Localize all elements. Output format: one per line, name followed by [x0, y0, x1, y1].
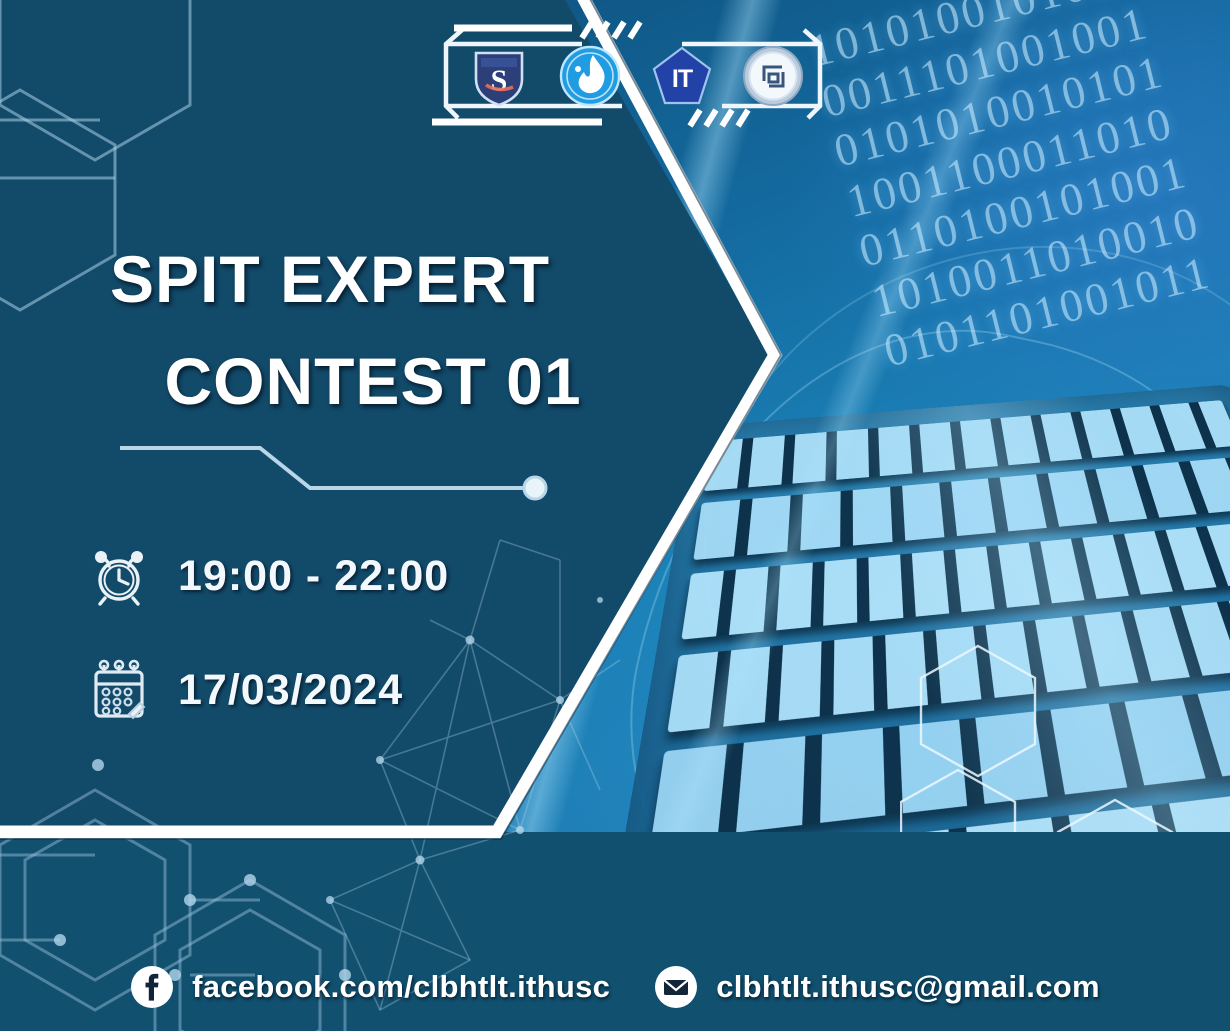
alarm-clock-icon [88, 545, 150, 607]
shield-letter: S [491, 64, 508, 97]
envelope-icon[interactable] [654, 965, 698, 1009]
logo-bar: S IT [432, 14, 830, 136]
facebook-url[interactable]: facebook.com/clbhtlt.ithusc [192, 969, 610, 1005]
logo-flame-circle-emblem [559, 45, 621, 107]
event-time: 19:00 - 22:00 [178, 552, 449, 601]
detail-row-date: 17/03/2024 [88, 659, 528, 721]
email-address[interactable]: clbhtlt.ithusc@gmail.com [716, 969, 1100, 1005]
logo-shield-emblem: S [468, 45, 530, 107]
title-line-1: SPIT EXPERT [0, 228, 650, 330]
page-title: SPIT EXPERT CONTEST 01 [0, 228, 650, 433]
binary-code-texture: 1010100101011 0011101001001 010101001010… [804, 0, 1230, 444]
event-details: 19:00 - 22:00 [88, 545, 528, 773]
hatch-marks-top [582, 22, 640, 38]
footer-contacts: facebook.com/clbhtlt.ithusc clbhtlt.ithu… [0, 965, 1230, 1009]
logo-row: S IT [468, 38, 804, 114]
detail-row-time: 19:00 - 22:00 [88, 545, 528, 607]
contact-facebook[interactable]: facebook.com/clbhtlt.ithusc [130, 965, 610, 1009]
logo-pentagon-it-emblem: IT [651, 45, 713, 107]
facebook-icon[interactable] [130, 965, 174, 1009]
contact-email[interactable]: clbhtlt.ithusc@gmail.com [654, 965, 1100, 1009]
title-line-2: CONTEST 01 [0, 330, 650, 432]
logo-circular-seal-emblem [742, 45, 804, 107]
event-date: 17/03/2024 [178, 666, 403, 715]
pentagon-letters: IT [672, 65, 693, 93]
calendar-icon [88, 659, 150, 721]
event-poster: 1010100101011 0011101001001 010101001010… [0, 0, 1230, 1031]
